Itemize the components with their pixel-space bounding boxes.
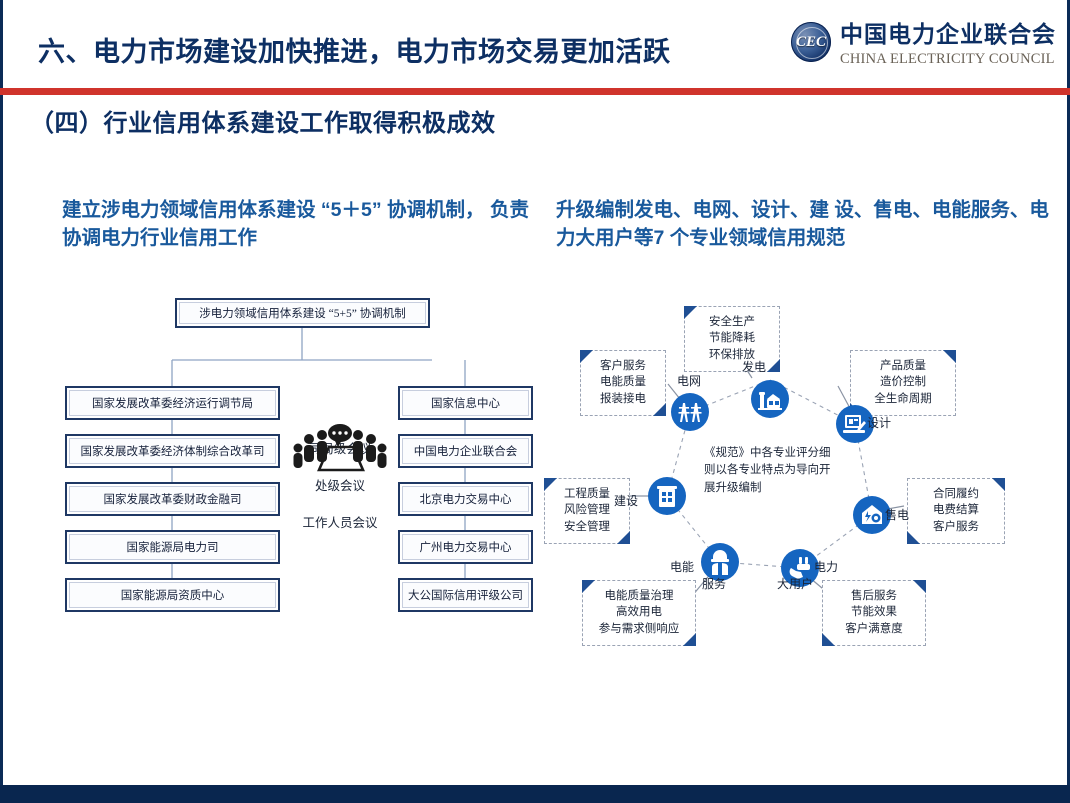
corner-accent-icon — [913, 580, 926, 593]
callout-shoudian-line-0: 合同履约 — [914, 486, 998, 502]
logo-english-name: CHINA ELECTRICITY COUNCIL — [840, 51, 1056, 68]
callout-dayonghu-line-0: 售后服务 — [829, 588, 919, 604]
node-label-dayonghu-1: 电力 — [814, 558, 838, 575]
callout-dayonghu-line-2: 客户满意度 — [829, 621, 919, 637]
corner-accent-icon — [683, 633, 696, 646]
callout-jianshe-line-1: 风险管理 — [551, 502, 623, 518]
callout-sheji: 产品质量 造价控制 全生命周期 — [850, 350, 956, 416]
org-right-label-0: 国家信息中心 — [402, 390, 529, 416]
node-label-jianshe: 建设 — [614, 492, 638, 509]
org-right-label-1: 中国电力企业联合会 — [402, 438, 529, 464]
callout-shoudian: 合同履约 电费结算 客户服务 — [907, 478, 1005, 544]
org-right-item-4: 大公国际信用评级公司 — [398, 578, 533, 612]
node-label-sheji: 设计 — [867, 414, 891, 431]
callout-dnfuwu: 电能质量治理 高效用电 参与需求侧响应 — [582, 580, 696, 646]
org-left-item-4: 国家能源局资质中心 — [65, 578, 280, 612]
org-right-label-2: 北京电力交易中心 — [402, 486, 529, 512]
service-worker-icon — [707, 549, 733, 575]
callout-fadian-line-0: 安全生产 — [691, 314, 773, 330]
building-icon — [654, 483, 680, 509]
node-fadian-icon[interactable] — [751, 380, 789, 418]
callout-dayonghu: 售后服务 节能效果 客户满意度 — [822, 580, 926, 646]
corner-accent-icon — [943, 350, 956, 363]
organization-logo: CEC 中国电力企业联合会 CHINA ELECTRICITY COUNCIL — [791, 22, 1056, 68]
callout-shoudian-line-2: 客户服务 — [914, 519, 998, 535]
org-left-item-3: 国家能源局电力司 — [65, 530, 280, 564]
org-left-label-0: 国家发展改革委经济运行调节局 — [69, 390, 276, 416]
org-top-box-label: 涉电力领域信用体系建设 “5+5” 协调机制 — [179, 302, 426, 324]
transmission-tower-icon — [677, 399, 703, 425]
callout-shoudian-line-1: 电费结算 — [914, 502, 998, 518]
callout-dianwang: 客户服务 电能质量 报装接电 — [580, 350, 666, 416]
org-left-label-1: 国家发展改革委经济体制综合改革司 — [69, 438, 276, 464]
footer-bar — [0, 785, 1070, 803]
corner-accent-icon — [822, 633, 835, 646]
callout-sheji-line-0: 产品质量 — [857, 358, 949, 374]
node-jianshe-icon[interactable] — [648, 477, 686, 515]
corner-accent-icon — [907, 531, 920, 544]
blueprint-pen-icon — [842, 411, 868, 437]
corner-accent-icon — [992, 478, 1005, 491]
section-subtitle: （四）行业信用体系建设工作取得积极成效 — [30, 103, 496, 138]
node-dianwang-icon[interactable] — [671, 393, 709, 431]
org-right-item-3: 广州电力交易中心 — [398, 530, 533, 564]
callout-dnfuwu-line-2: 参与需求侧响应 — [589, 621, 689, 637]
corner-accent-icon — [684, 306, 697, 319]
org-right-label-3: 广州电力交易中心 — [402, 534, 529, 560]
corner-accent-icon — [580, 350, 593, 363]
callout-jianshe: 工程质量 风险管理 安全管理 — [544, 478, 630, 544]
page-title: 六、电力市场建设加快推进，电力市场交易更加活跃 — [38, 30, 671, 69]
electric-meter-icon — [859, 502, 885, 528]
corner-accent-icon — [582, 580, 595, 593]
meeting-level-2: 工作人员会议 — [285, 512, 395, 531]
org-right-item-0: 国家信息中心 — [398, 386, 533, 420]
node-label-fadian: 发电 — [742, 358, 766, 375]
node-label-dayonghu-2: 大用户 — [777, 575, 813, 592]
left-edge-rule — [0, 0, 3, 803]
callout-jianshe-line-0: 工程质量 — [551, 486, 623, 502]
power-plant-icon — [757, 386, 783, 412]
callout-dianwang-line-1: 电能质量 — [587, 374, 659, 390]
callout-dianwang-line-0: 客户服务 — [587, 358, 659, 374]
radial-diagram: 安全生产 节能降耗 环保排放 产品质量 造价控制 全生命周期 合同履约 电费结算… — [552, 300, 1052, 645]
org-left-item-2: 国家发展改革委财政金融司 — [65, 482, 280, 516]
callout-dnfuwu-line-0: 电能质量治理 — [589, 588, 689, 604]
org-right-label-4: 大公国际信用评级公司 — [402, 582, 529, 608]
callout-sheji-line-2: 全生命周期 — [857, 391, 949, 407]
corner-accent-icon — [617, 531, 630, 544]
meeting-levels-block: 司局级会议 处级会议 工作人员会议 — [285, 420, 395, 531]
node-label-dianwang: 电网 — [677, 372, 701, 389]
org-left-label-4: 国家能源局资质中心 — [69, 582, 276, 608]
right-column-heading: 升级编制发电、电网、设计、建 设、售电、电能服务、电力大用户等7 个专业领域信用… — [556, 196, 1056, 253]
callout-dnfuwu-line-1: 高效用电 — [589, 604, 689, 620]
org-left-item-0: 国家发展改革委经济运行调节局 — [65, 386, 280, 420]
org-left-item-1: 国家发展改革委经济体制综合改革司 — [65, 434, 280, 468]
node-label-dnfuwu-1: 电能 — [670, 558, 694, 575]
callout-dianwang-line-2: 报装接电 — [587, 391, 659, 407]
logo-text-block: 中国电力企业联合会 CHINA ELECTRICITY COUNCIL — [840, 22, 1056, 68]
org-right-item-1: 中国电力企业联合会 — [398, 434, 533, 468]
slide-root: 六、电力市场建设加快推进，电力市场交易更加活跃 CEC 中国电力企业联合会 CH… — [0, 0, 1070, 803]
corner-accent-icon — [653, 403, 666, 416]
org-top-box: 涉电力领域信用体系建设 “5+5” 协调机制 — [175, 298, 430, 328]
cec-monogram: CEC — [791, 22, 831, 62]
logo-chinese-name: 中国电力企业联合会 — [840, 22, 1056, 48]
radial-center-text: 《规范》中各专业评分细则以各专业特点为导向开展升级编制 — [704, 445, 836, 497]
org-chart: 涉电力领域信用体系建设 “5+5” 协调机制 国家发展改革委经济运行调节局 国家… — [60, 298, 530, 638]
org-left-label-3: 国家能源局电力司 — [69, 534, 276, 560]
slide-header: 六、电力市场建设加快推进，电力市场交易更加活跃 CEC 中国电力企业联合会 CH… — [0, 0, 1070, 90]
node-label-dnfuwu-2: 服务 — [702, 575, 726, 592]
callout-sheji-line-1: 造价控制 — [857, 374, 949, 390]
header-red-divider — [0, 88, 1070, 95]
callout-jianshe-line-2: 安全管理 — [551, 519, 623, 535]
left-column-heading: 建立涉电力领域信用体系建设 “5＋5” 协调机制， 负责协调电力行业信用工作 — [62, 196, 532, 253]
org-left-label-2: 国家发展改革委财政金融司 — [69, 486, 276, 512]
node-label-shoudian: 售电 — [885, 506, 909, 523]
corner-accent-icon — [767, 359, 780, 372]
org-right-item-2: 北京电力交易中心 — [398, 482, 533, 516]
cec-emblem-icon: CEC — [791, 22, 831, 62]
meeting-table-icon — [285, 420, 395, 478]
callout-fadian-line-1: 节能降耗 — [691, 330, 773, 346]
callout-dayonghu-line-1: 节能效果 — [829, 604, 919, 620]
corner-accent-icon — [544, 478, 557, 491]
